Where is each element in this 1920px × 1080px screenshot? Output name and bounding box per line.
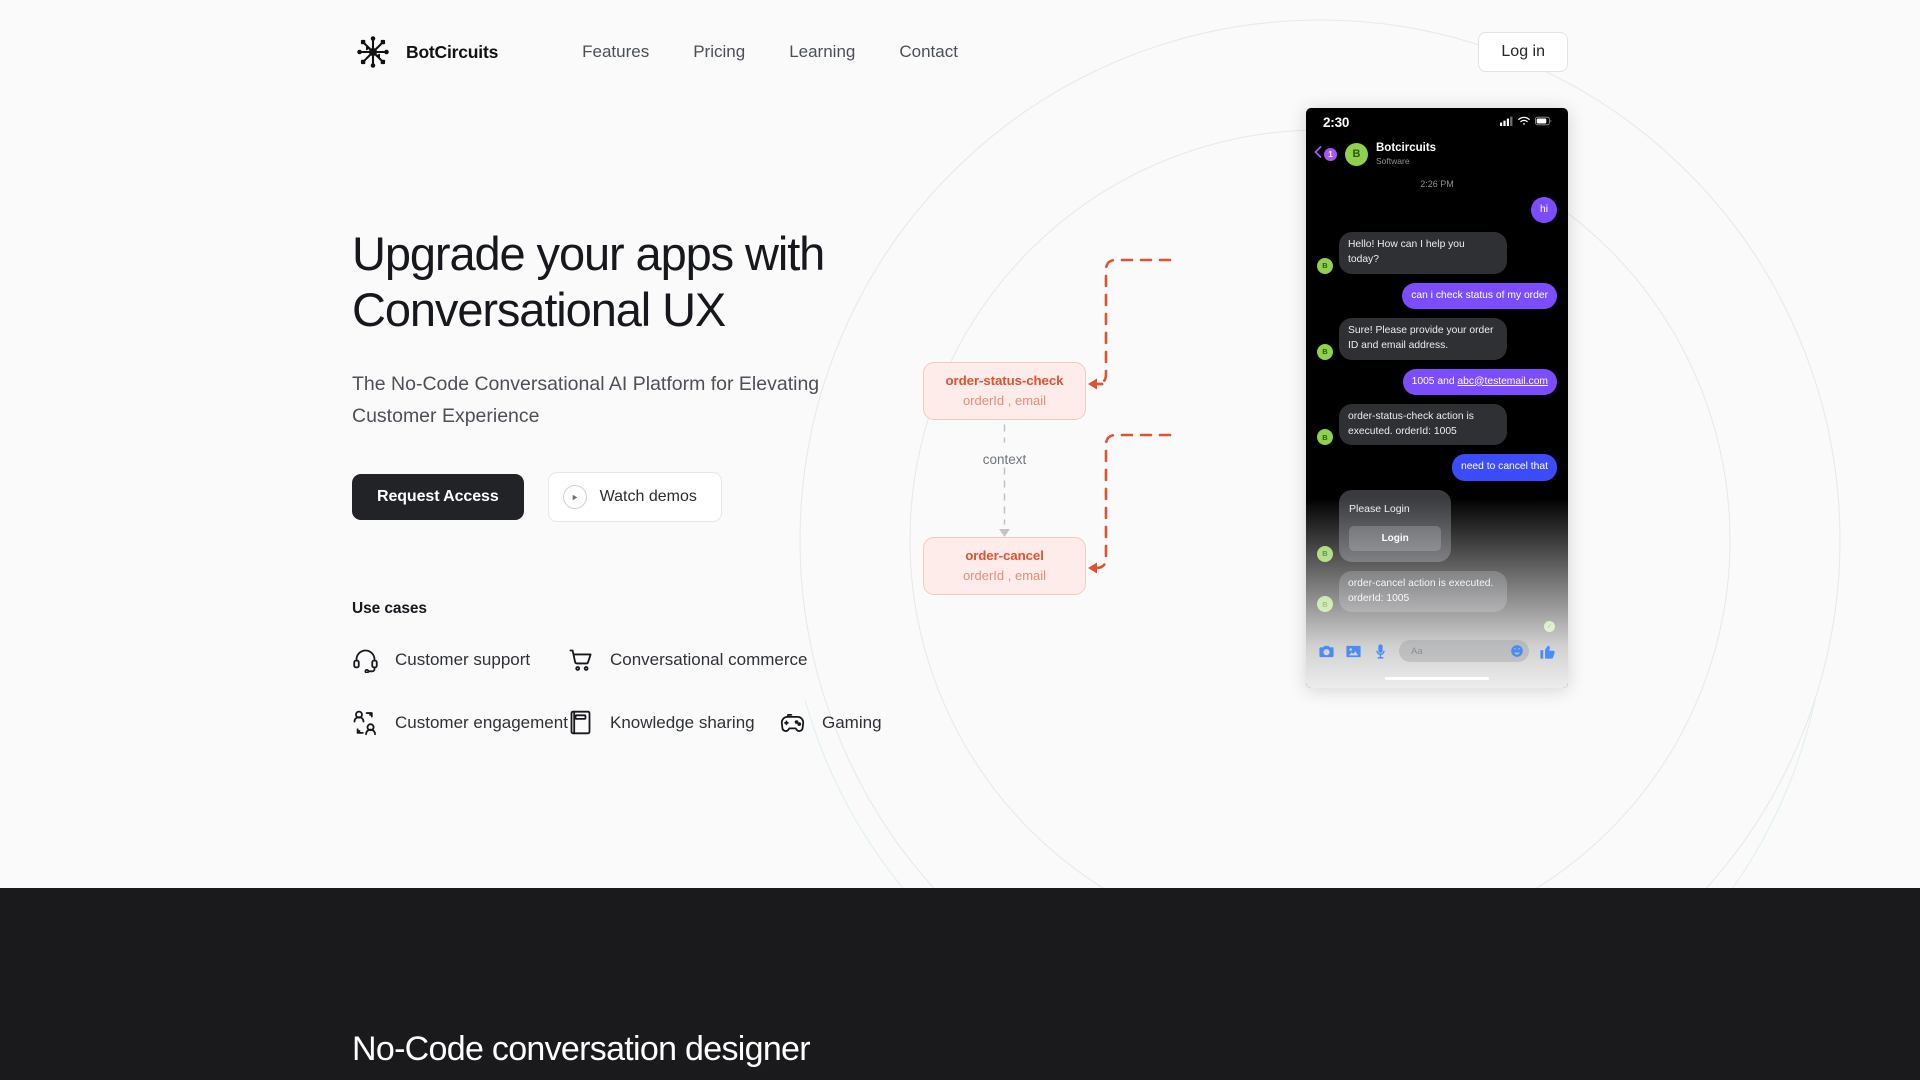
circuit-node-logo-icon [352, 31, 394, 73]
nav-item-learning[interactable]: Learning [767, 32, 877, 72]
hero-illustration: order-status-check orderId , email conte… [900, 104, 1920, 736]
phone-chat-header: 1 B Botcircuits Software [1306, 136, 1568, 175]
nav-item-features[interactable]: Features [560, 32, 671, 72]
phone-status-bar: 2:30 [1306, 108, 1568, 136]
chat-message-bot: B Hello! How can I help you today? [1317, 232, 1557, 273]
hero-title-line-2: Conversational UX [352, 283, 725, 336]
avatar: B [1317, 596, 1333, 612]
use-case-gaming[interactable]: Gaming [779, 709, 882, 736]
use-case-conversational-commerce[interactable]: Conversational commerce [567, 646, 807, 673]
chat-message-user: 1005 and abc@testemail.com [1317, 369, 1557, 396]
emoji-smiley-icon[interactable] [1510, 644, 1524, 658]
flow-context-label: context [923, 452, 1086, 467]
chat-message-bot-card: B Please Login Login [1317, 490, 1557, 562]
users-exchange-icon [352, 709, 379, 736]
use-case-knowledge-sharing[interactable]: Knowledge sharing [567, 709, 779, 736]
chat-message-user: need to cancel that [1317, 454, 1557, 481]
flow-node-params: orderId , email [932, 393, 1077, 408]
avatar: B [1317, 344, 1333, 360]
flow-node-title: order-cancel [932, 548, 1077, 563]
wifi-icon [1518, 113, 1530, 131]
avatar: B [1317, 429, 1333, 445]
brand-name: BotCircuits [406, 42, 498, 63]
request-access-button[interactable]: Request Access [352, 474, 524, 520]
use-case-label: Customer engagement [395, 713, 568, 733]
chat-message-bot: B order-status-check action is executed.… [1317, 404, 1557, 445]
use-case-label: Gaming [822, 713, 882, 733]
phone-mockup: 2:30 [1306, 108, 1568, 688]
main-navigation: Features Pricing Learning Contact [560, 32, 980, 72]
flow-node-order-status-check[interactable]: order-status-check orderId , email [923, 362, 1086, 420]
camera-icon[interactable] [1318, 643, 1335, 660]
brand-logo-link[interactable]: BotCircuits [352, 31, 498, 73]
message-bubble: Sure! Please provide your order ID and e… [1339, 318, 1507, 359]
message-bubble: order-cancel action is executed. orderId… [1339, 571, 1507, 612]
chat-message-bot: B order-cancel action is executed. order… [1317, 571, 1557, 612]
chat-timestamp: 2:26 PM [1306, 175, 1568, 197]
headset-icon [352, 646, 379, 673]
site-header: BotCircuits Features Pricing Learning Co… [0, 0, 1920, 104]
login-card: Please Login Login [1339, 490, 1451, 562]
message-bubble: Hello! How can I help you today? [1339, 232, 1507, 273]
watch-demos-button[interactable]: Watch demos [548, 472, 722, 522]
thumbs-up-icon[interactable] [1539, 643, 1556, 660]
message-seen-indicator: ✓ [1544, 621, 1555, 632]
use-case-label: Conversational commerce [610, 650, 807, 670]
flow-node-params: orderId , email [932, 568, 1077, 583]
status-bar-time: 2:30 [1323, 115, 1349, 130]
login-button[interactable]: Log in [1478, 32, 1568, 72]
home-indicator [1385, 677, 1489, 681]
login-card-title: Please Login [1349, 503, 1410, 515]
message-input[interactable]: Aa [1399, 640, 1529, 662]
use-case-label: Knowledge sharing [610, 713, 755, 733]
chat-message-user: can i check status of my order [1317, 283, 1557, 310]
use-cases-row-1: Customer support Conversational commerce [352, 646, 900, 673]
book-icon [567, 709, 594, 736]
shopping-cart-icon [567, 646, 594, 673]
chat-contact-subtitle: Software [1376, 156, 1436, 167]
message-bubble: order-status-check action is executed. o… [1339, 404, 1507, 445]
no-code-designer-section: No-Code conversation designer [0, 888, 1920, 1080]
chat-message-list: hi B Hello! How can I help you today? ca… [1306, 197, 1568, 632]
use-cases-row-2: Customer engagement Knowledge sharing [352, 709, 900, 736]
flow-node-order-cancel[interactable]: order-cancel orderId , email [923, 537, 1086, 595]
play-icon [563, 485, 587, 509]
image-icon[interactable] [1345, 643, 1362, 660]
chevron-left-icon[interactable] [1314, 145, 1322, 163]
chat-input-bar: Aa [1306, 640, 1568, 662]
message-bubble: hi [1531, 197, 1557, 224]
hero-section: Upgrade your apps with Conversational UX… [0, 104, 1920, 736]
message-bubble: can i check status of my order [1402, 283, 1557, 310]
use-case-customer-support[interactable]: Customer support [352, 646, 567, 673]
cellular-signal-icon [1500, 113, 1513, 131]
chat-message-bot: B Sure! Please provide your order ID and… [1317, 318, 1557, 359]
conversation-flow-diagram: order-status-check orderId , email conte… [750, 224, 1270, 644]
watch-demos-label: Watch demos [600, 488, 697, 506]
use-case-customer-engagement[interactable]: Customer engagement [352, 709, 567, 736]
microphone-icon[interactable] [1372, 643, 1389, 660]
section-title: No-Code conversation designer [352, 1030, 810, 1069]
login-card-button[interactable]: Login [1349, 526, 1441, 551]
message-input-placeholder: Aa [1411, 646, 1423, 657]
flow-node-title: order-status-check [932, 373, 1077, 388]
avatar: B [1317, 546, 1333, 562]
email-link[interactable]: abc@testemail.com [1457, 376, 1548, 387]
message-bubble: need to cancel that [1452, 454, 1557, 481]
message-bubble: 1005 and abc@testemail.com [1403, 369, 1557, 396]
chat-message-user: hi [1317, 197, 1557, 224]
use-case-label: Customer support [395, 650, 530, 670]
unread-badge: 1 [1324, 148, 1337, 161]
gamepad-icon [779, 709, 806, 736]
avatar: B [1317, 258, 1333, 274]
nav-item-contact[interactable]: Contact [877, 32, 980, 72]
nav-item-pricing[interactable]: Pricing [671, 32, 767, 72]
avatar: B [1345, 143, 1368, 166]
battery-icon [1535, 113, 1552, 131]
chat-contact-name: Botcircuits [1376, 142, 1436, 156]
